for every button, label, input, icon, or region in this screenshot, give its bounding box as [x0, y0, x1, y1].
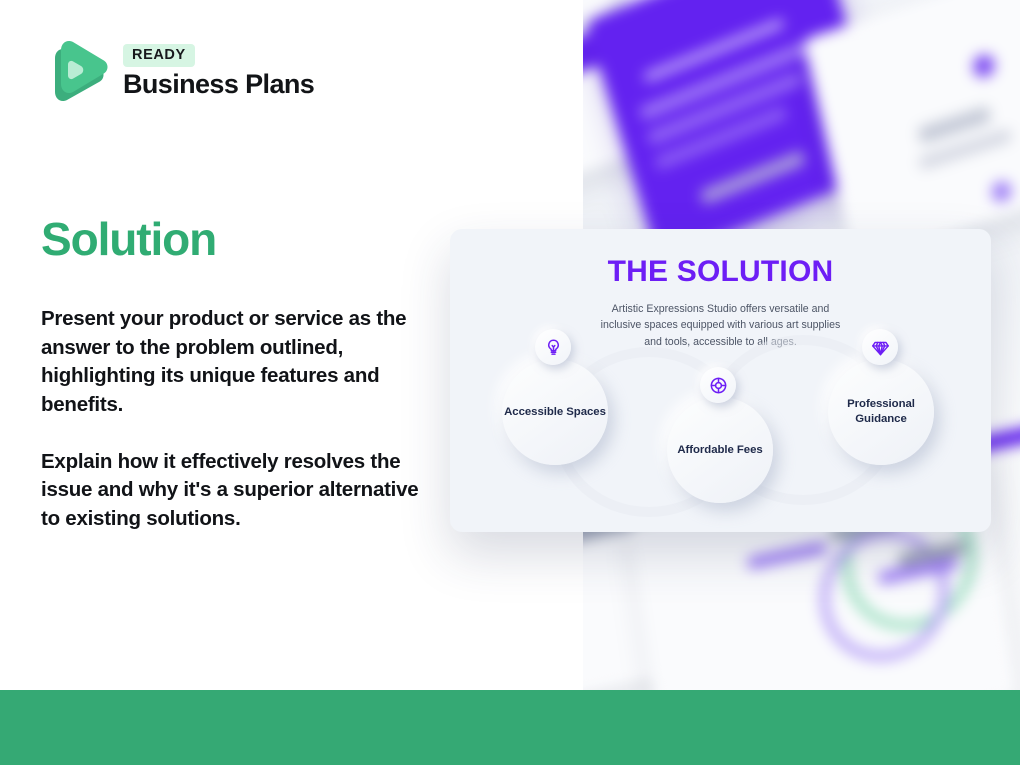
feature-bubble-professional-guidance[interactable]: Professional Guidance [828, 359, 934, 465]
feature-bubble-accessible-spaces[interactable]: Accessible Spaces [502, 359, 608, 465]
solution-card-title: THE SOLUTION [450, 255, 991, 289]
footer-bar [0, 690, 1020, 765]
body-text-block: Present your product or service as the a… [41, 305, 441, 534]
lightbulb-icon [535, 329, 571, 365]
feature-label: Professional Guidance [828, 397, 934, 426]
body-paragraph-2: Explain how it effectively resolves the … [41, 448, 441, 534]
lifebuoy-icon [700, 367, 736, 403]
diamond-icon [862, 329, 898, 365]
body-paragraph-1: Present your product or service as the a… [41, 305, 441, 420]
ready-badge: READY [123, 44, 195, 67]
feature-bubble-affordable-fees[interactable]: Affordable Fees [667, 397, 773, 503]
page-title: Solution [41, 215, 216, 263]
brand-logo: READY Business Plans [41, 36, 314, 108]
feature-label: Accessible Spaces [504, 405, 606, 420]
background-slide-right [803, 0, 1020, 265]
feature-label: Affordable Fees [677, 443, 762, 458]
solution-preview-card: THE SOLUTION Artistic Expressions Studio… [450, 229, 991, 532]
feature-bubble-group: Accessible Spaces Affordable Fees [450, 341, 991, 532]
brand-name: Business Plans [123, 70, 314, 100]
play-triangle-logo-icon [41, 36, 109, 108]
